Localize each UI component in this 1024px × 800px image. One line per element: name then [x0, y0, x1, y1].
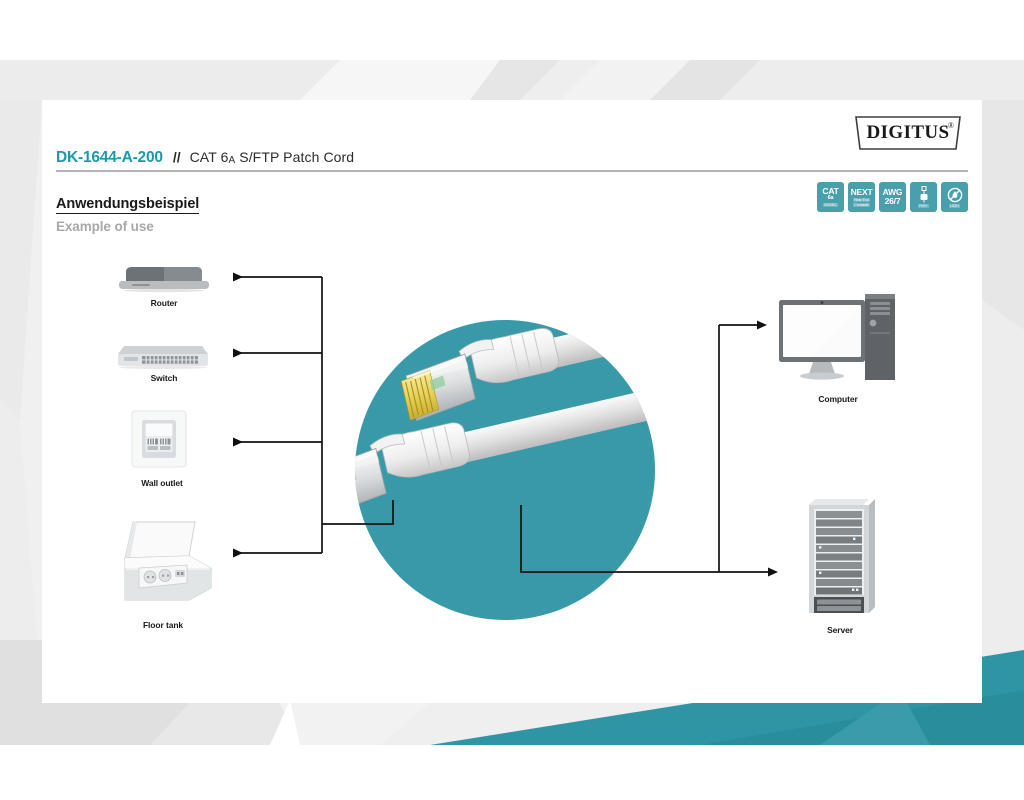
datasheet-page: DIGITUS ® DK-1644-A-200 // CAT 6A S/FTP … — [0, 0, 1024, 800]
floor-tank-device — [117, 518, 217, 604]
switch-device — [114, 340, 212, 370]
router-icon — [118, 263, 210, 293]
floor-tank-label: Floor tank — [107, 620, 219, 630]
router-device — [118, 263, 210, 293]
wall-outlet-label: Wall outlet — [106, 478, 218, 488]
computer-device — [777, 288, 899, 384]
floor-tank-icon — [117, 518, 217, 604]
server-label: Server — [785, 625, 895, 635]
switch-icon — [114, 340, 212, 370]
wall-outlet-icon — [131, 410, 187, 468]
server-icon — [803, 495, 875, 619]
computer-icon — [777, 288, 899, 384]
wall-outlet-device — [131, 410, 187, 468]
switch-label: Switch — [108, 373, 220, 383]
computer-label: Computer — [783, 394, 893, 404]
server-device — [803, 495, 875, 619]
router-label: Router — [108, 298, 220, 308]
